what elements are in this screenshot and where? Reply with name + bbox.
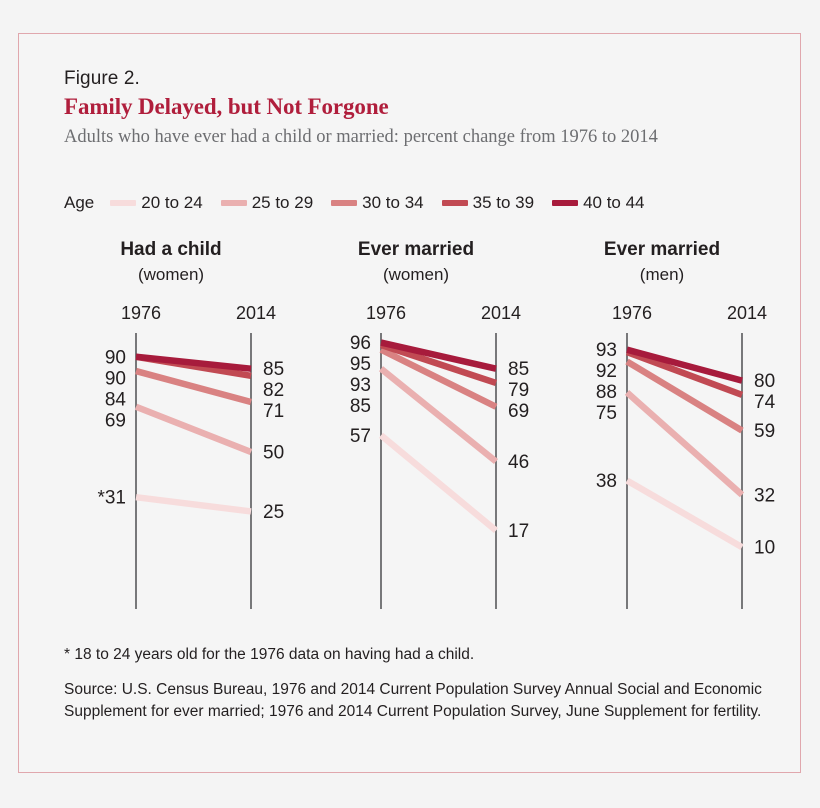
x-tick-1976: 1976 <box>121 303 161 323</box>
x-tick-1976: 1976 <box>612 303 652 323</box>
value-label-right-25-to-29: 32 <box>754 485 775 506</box>
legend-item-30-34[interactable]: 30 to 34 <box>331 193 423 213</box>
value-label-left-40-to-44: 93 <box>596 340 617 361</box>
value-label-left-20-to-24: *31 <box>97 488 126 509</box>
value-label-right-35-to-39: 79 <box>508 380 529 401</box>
value-label-right-25-to-29: 50 <box>263 442 284 463</box>
figure-number: Figure 2. <box>64 68 140 90</box>
panel-title: Ever married <box>291 239 541 261</box>
legend: Age 20 to 24 25 to 29 30 to 34 35 to 39 … <box>64 192 663 214</box>
value-label-right-35-to-39: 74 <box>754 392 776 413</box>
value-label-right-20-to-24: 10 <box>754 538 775 559</box>
legend-swatch-35-39 <box>442 200 468 206</box>
value-label-left-20-to-24: 57 <box>350 426 371 447</box>
value-label-right-30-to-34: 69 <box>508 401 529 422</box>
legend-item-25-29[interactable]: 25 to 29 <box>221 193 313 213</box>
value-label-right-40-to-44: 85 <box>263 359 284 380</box>
value-label-left-25-to-29: 75 <box>596 403 617 424</box>
figure-frame: Figure 2. Family Delayed, but Not Forgon… <box>18 33 801 773</box>
value-label-right-35-to-39: 82 <box>263 380 284 401</box>
series-line-25-to-29[interactable] <box>136 407 251 452</box>
legend-swatch-20-24 <box>110 200 136 206</box>
value-label-right-40-to-44: 80 <box>754 371 775 392</box>
value-label-right-30-to-34: 59 <box>754 421 775 442</box>
panel-subtitle: (women) <box>291 265 541 285</box>
footnote: * 18 to 24 years old for the 1976 data o… <box>64 646 474 664</box>
series-line-20-to-24[interactable] <box>627 481 742 548</box>
x-tick-2014: 2014 <box>236 303 276 323</box>
legend-title: Age <box>64 193 94 213</box>
x-tick-2014: 2014 <box>727 303 767 323</box>
value-label-right-20-to-24: 25 <box>263 502 284 523</box>
x-tick-2014: 2014 <box>481 303 521 323</box>
legend-label-30-34: 30 to 34 <box>362 193 423 213</box>
value-label-left-30-to-34: 88 <box>596 382 617 403</box>
legend-label-35-39: 35 to 39 <box>473 193 534 213</box>
legend-label-25-29: 25 to 29 <box>252 193 313 213</box>
value-label-left-30-to-34: 84 <box>105 389 127 410</box>
legend-label-40-44: 40 to 44 <box>583 193 644 213</box>
value-label-left-40-to-44: 96 <box>350 333 371 354</box>
panel-plot: 1976201493928875388074593210 <box>537 293 787 623</box>
value-label-left-35-to-39: 90 <box>105 347 126 368</box>
panel-plot: 1976201490908469*318582715025 <box>46 293 296 623</box>
panel-title: Ever married <box>537 239 787 261</box>
x-tick-1976: 1976 <box>366 303 406 323</box>
panel-subtitle: (men) <box>537 265 787 285</box>
legend-swatch-25-29 <box>221 200 247 206</box>
panel-subtitle: (women) <box>46 265 296 285</box>
value-label-right-40-to-44: 85 <box>508 359 529 380</box>
legend-item-20-24[interactable]: 20 to 24 <box>110 193 202 213</box>
value-label-left-25-to-29: 69 <box>105 410 126 431</box>
panel-plot: 1976201496959385578579694617 <box>291 293 541 623</box>
figure-title: Family Delayed, but Not Forgone <box>64 94 389 120</box>
value-label-left-30-to-34: 93 <box>350 375 371 396</box>
value-label-left-35-to-39: 92 <box>596 361 617 382</box>
legend-label-20-24: 20 to 24 <box>141 193 202 213</box>
value-label-right-25-to-29: 46 <box>508 452 529 473</box>
value-label-left-40-to-44: 90 <box>105 368 126 389</box>
legend-item-35-39[interactable]: 35 to 39 <box>442 193 534 213</box>
value-label-left-25-to-29: 85 <box>350 396 371 417</box>
source-note: Source: U.S. Census Bureau, 1976 and 201… <box>64 679 764 723</box>
value-label-right-20-to-24: 17 <box>508 521 529 542</box>
legend-swatch-40-44 <box>552 200 578 206</box>
value-label-left-20-to-24: 38 <box>596 471 617 492</box>
value-label-left-35-to-39: 95 <box>350 354 371 375</box>
value-label-right-30-to-34: 71 <box>263 401 284 422</box>
legend-item-40-44[interactable]: 40 to 44 <box>552 193 644 213</box>
series-line-20-to-24[interactable] <box>136 497 251 511</box>
panel-title: Had a child <box>46 239 296 261</box>
series-line-25-to-29[interactable] <box>627 392 742 494</box>
legend-swatch-30-34 <box>331 200 357 206</box>
figure-subtitle: Adults who have ever had a child or marr… <box>64 126 764 149</box>
